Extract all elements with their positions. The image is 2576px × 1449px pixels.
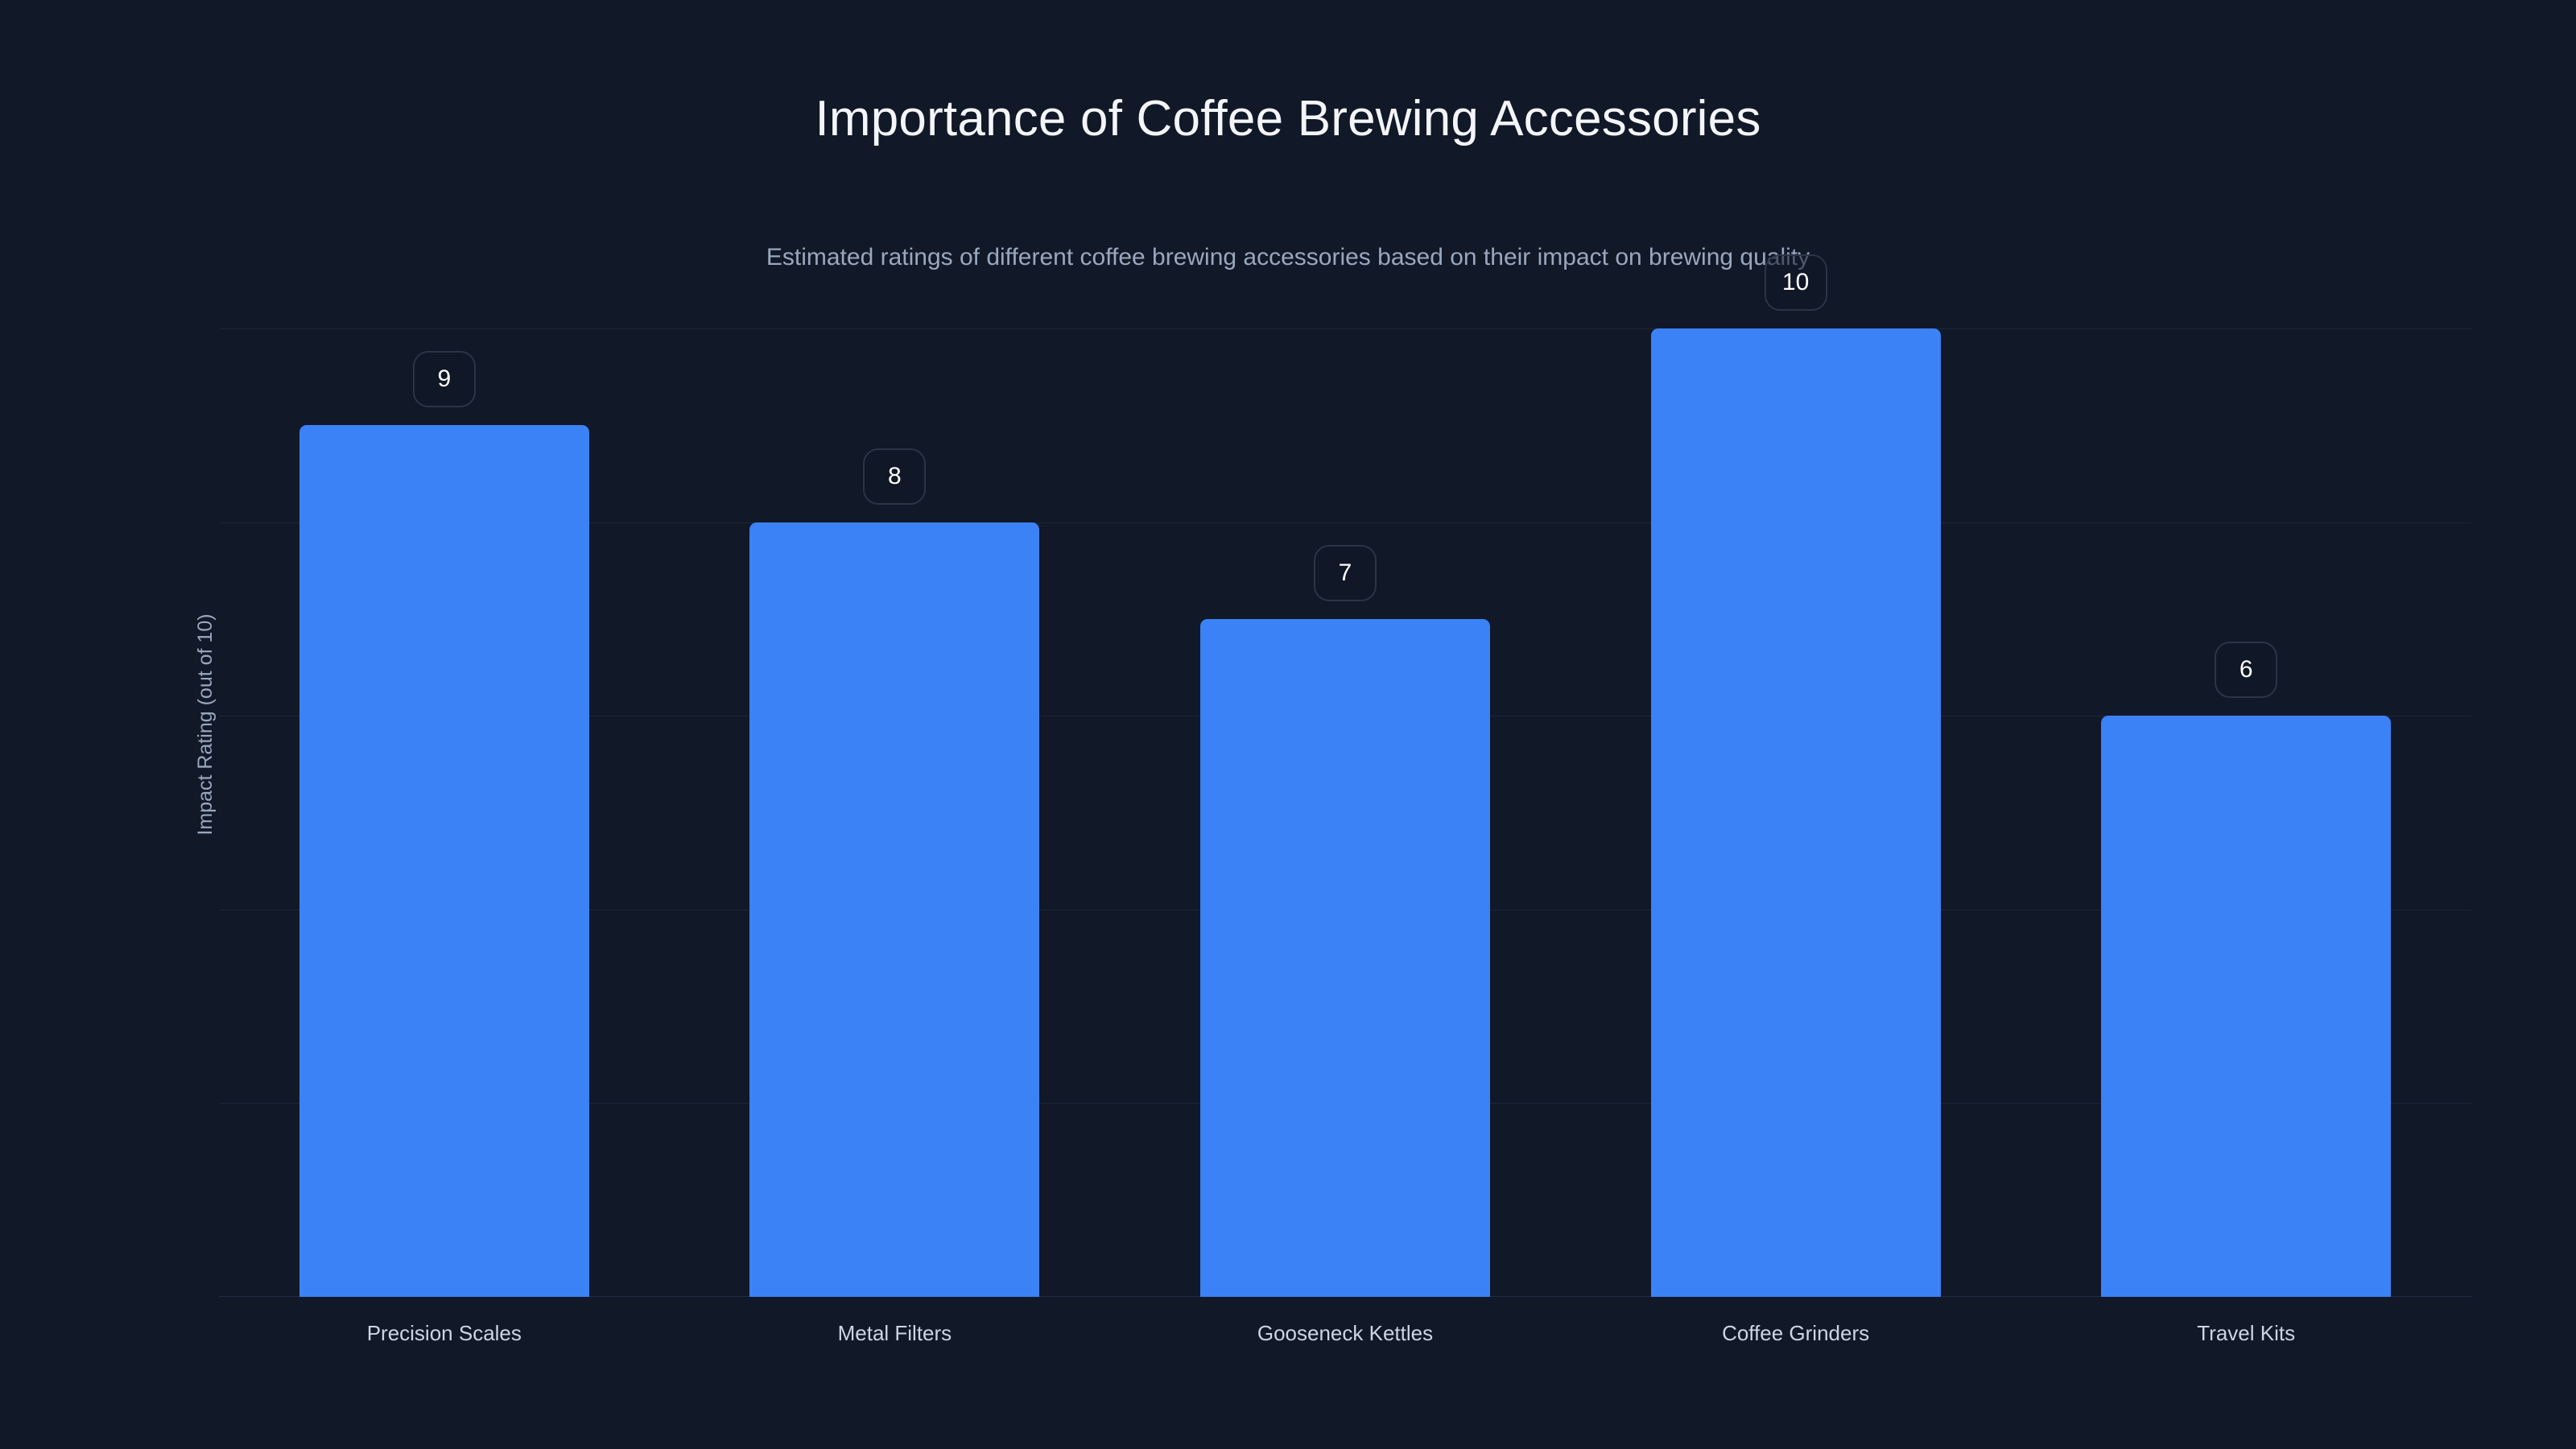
bar-value-label: 10 [1765, 254, 1827, 311]
bar-value-label: 6 [2215, 642, 2277, 698]
bar-value-label: 8 [863, 448, 926, 505]
bar[interactable] [1651, 328, 1941, 1297]
x-axis-category-label: Coffee Grinders [1722, 1321, 1869, 1346]
bar[interactable] [2101, 716, 2391, 1297]
y-axis-title: Impact Rating (out of 10) [194, 613, 217, 835]
bar-value-label: 9 [413, 351, 476, 407]
chart-title: Importance of Coffee Brewing Accessories [0, 90, 2576, 147]
x-axis-category-label: Metal Filters [838, 1321, 952, 1346]
bar[interactable] [299, 425, 589, 1297]
bar[interactable] [1200, 619, 1490, 1297]
bar-group: 9Precision Scales [219, 328, 670, 1297]
x-axis-category-label: Gooseneck Kettles [1257, 1321, 1433, 1346]
bar[interactable] [749, 522, 1039, 1297]
bar-group: 7Gooseneck Kettles [1120, 328, 1571, 1297]
bar-group: 8Metal Filters [670, 328, 1121, 1297]
bar-value-label: 7 [1314, 545, 1377, 601]
chart-subtitle: Estimated ratings of different coffee br… [0, 244, 2576, 271]
bar-group: 6Travel Kits [2021, 328, 2471, 1297]
x-axis-category-label: Travel Kits [2197, 1321, 2295, 1346]
bar-group: 10Coffee Grinders [1571, 328, 2021, 1297]
plot-area: 0246810 9Precision Scales8Metal Filters7… [219, 328, 2471, 1297]
x-axis-category-label: Precision Scales [367, 1321, 522, 1346]
